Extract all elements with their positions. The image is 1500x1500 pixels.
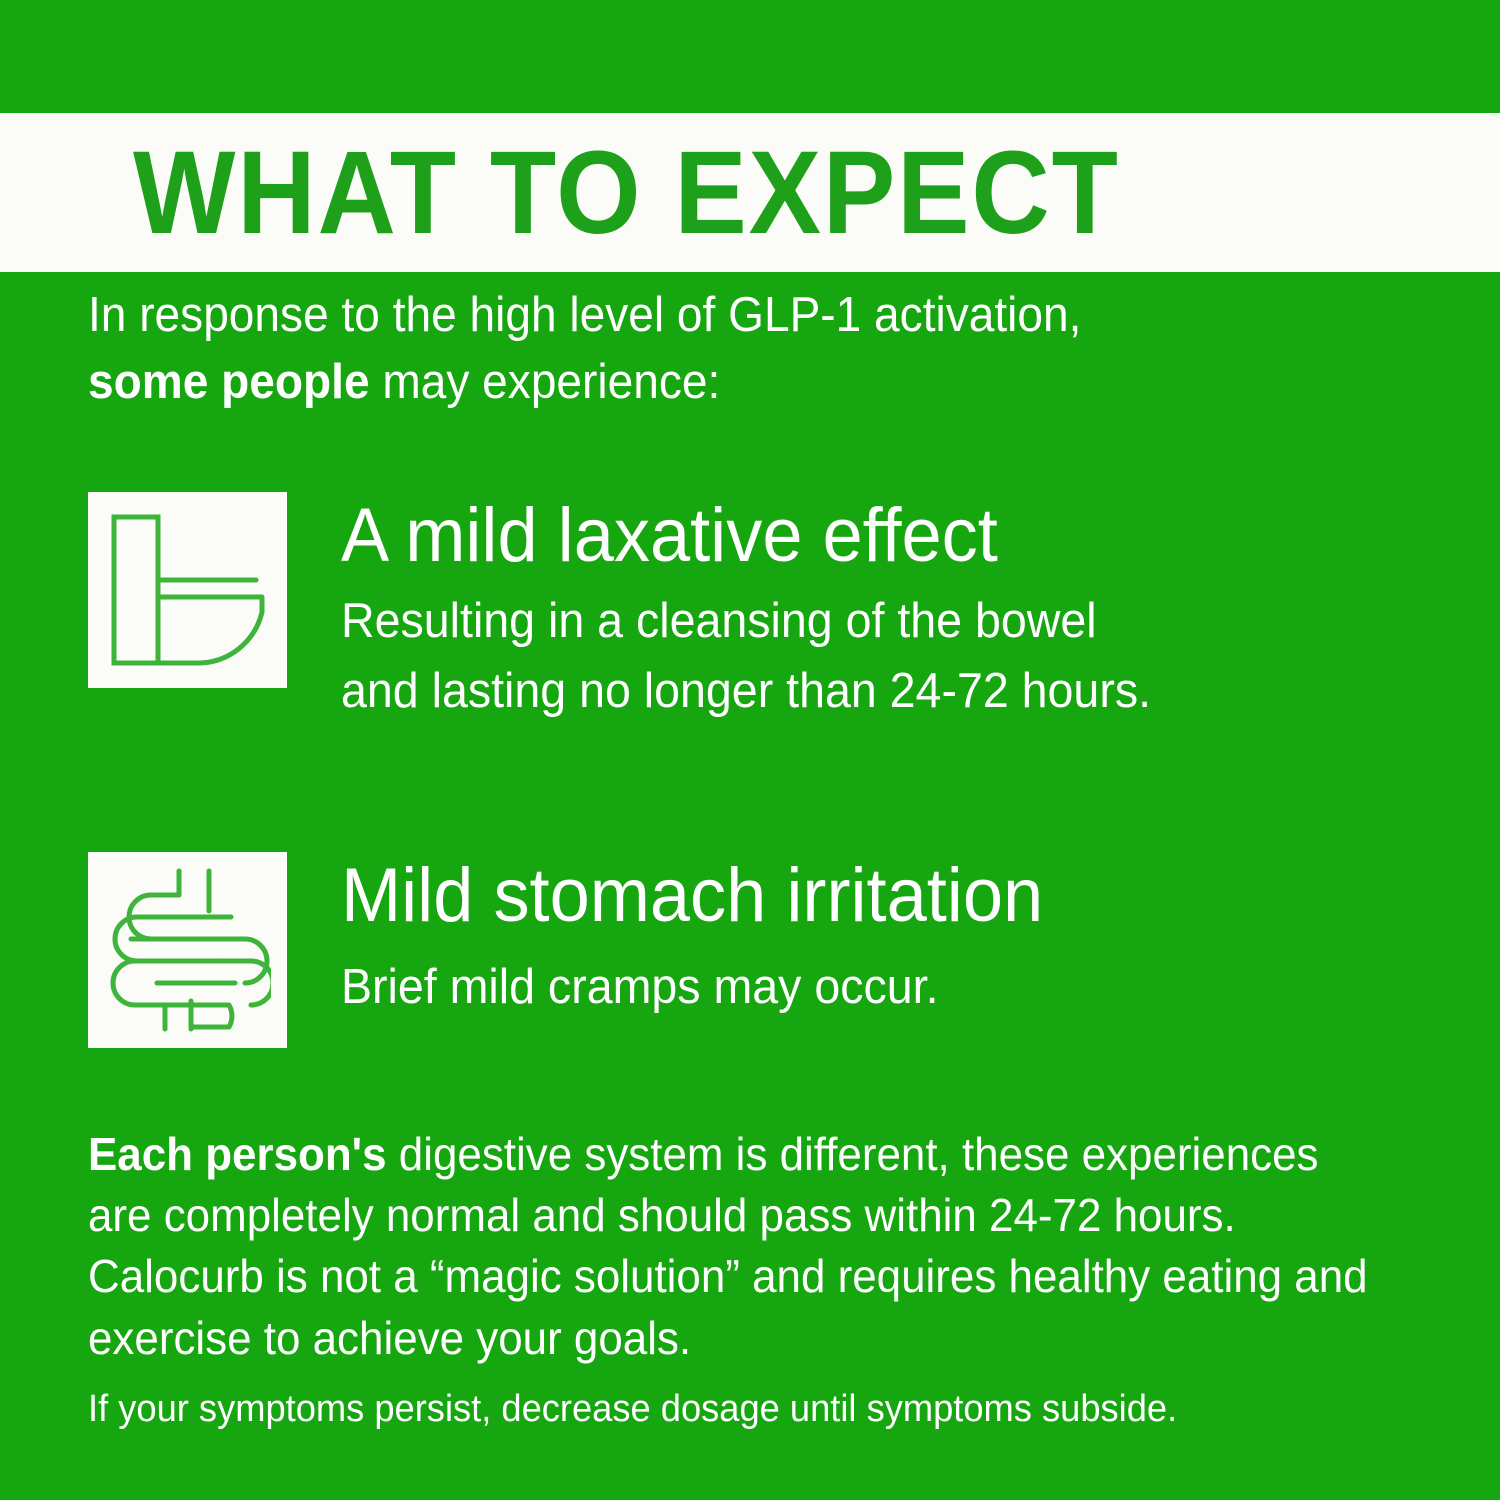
footer-note-line-4: exercise to achieve your goals. bbox=[88, 1308, 1425, 1369]
intestine-icon bbox=[105, 865, 271, 1035]
symptom-subtext-line: Brief mild cramps may occur. bbox=[341, 953, 1043, 1023]
symptom-subtext-line: Resulting in a cleansing of the bowel bbox=[341, 587, 1151, 657]
footer-small-note: If your symptoms persist, decrease dosag… bbox=[88, 1385, 1425, 1434]
footer-note-bold: Each person's bbox=[88, 1128, 387, 1180]
symptom-subtext: Resulting in a cleansing of the bowel an… bbox=[341, 587, 1151, 726]
footer-note-line-3: Calocurb is not a “magic solution” and r… bbox=[88, 1246, 1425, 1307]
symptom-row-stomach: Mild stomach irritation Brief mild cramp… bbox=[88, 852, 1080, 1048]
symptom-text-stomach: Mild stomach irritation Brief mild cramp… bbox=[341, 852, 1080, 1023]
intro-line-1: In response to the high level of GLP-1 a… bbox=[88, 282, 1338, 349]
page-title: WHAT TO EXPECT bbox=[133, 134, 1120, 252]
footer-note-line-1-rest: digestive system is different, these exp… bbox=[387, 1128, 1319, 1180]
intestine-icon-box bbox=[88, 852, 287, 1048]
toilet-icon-box bbox=[88, 492, 287, 688]
intro-line-2: some people may experience: bbox=[88, 349, 1338, 416]
intro-line-2-rest: may experience: bbox=[370, 355, 721, 409]
symptom-heading: A mild laxative effect bbox=[341, 496, 1151, 575]
footer-note-line-1: Each person's digestive system is differ… bbox=[88, 1124, 1425, 1185]
symptom-subtext: Brief mild cramps may occur. bbox=[341, 953, 1043, 1023]
footer-note: Each person's digestive system is differ… bbox=[88, 1124, 1425, 1369]
symptom-text-laxative: A mild laxative effect Resulting in a cl… bbox=[341, 492, 1194, 726]
symptom-subtext-line: and lasting no longer than 24-72 hours. bbox=[341, 657, 1151, 727]
toilet-icon bbox=[104, 509, 272, 671]
title-band: WHAT TO EXPECT bbox=[0, 113, 1500, 272]
intro-paragraph: In response to the high level of GLP-1 a… bbox=[88, 282, 1338, 415]
symptom-row-laxative: A mild laxative effect Resulting in a cl… bbox=[88, 492, 1194, 726]
what-to-expect-infographic: WHAT TO EXPECT In response to the high l… bbox=[0, 0, 1500, 1500]
intro-line-2-bold: some people bbox=[88, 355, 370, 409]
symptom-heading: Mild stomach irritation bbox=[341, 856, 1043, 935]
footer-note-line-2: are completely normal and should pass wi… bbox=[88, 1185, 1425, 1246]
